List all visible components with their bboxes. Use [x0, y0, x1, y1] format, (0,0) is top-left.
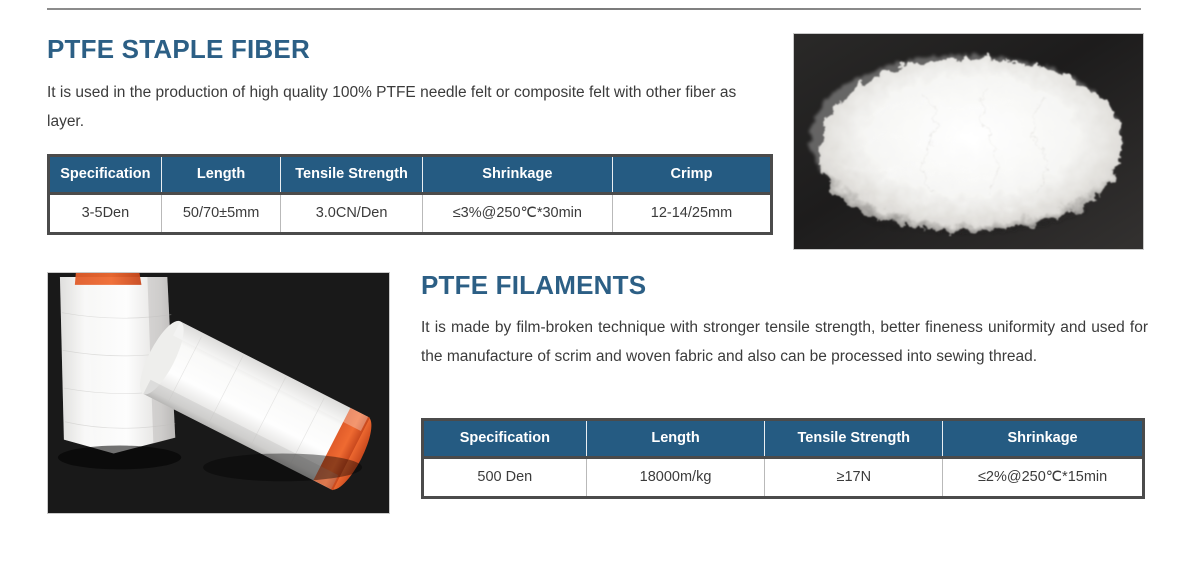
column-header-length: Length	[586, 420, 765, 458]
column-header-shrinkage: Shrinkage	[422, 156, 612, 194]
staple-fiber-description: It is used in the production of high qua…	[47, 78, 777, 136]
column-header-crimp: Crimp	[612, 156, 771, 194]
datasheet-page: PTFE STAPLE FIBER It is used in the prod…	[0, 0, 1188, 570]
cell-tensile-strength: ≥17N	[765, 458, 943, 498]
cell-shrinkage: ≤3%@250℃*30min	[422, 194, 612, 234]
cell-shrinkage: ≤2%@250℃*15min	[943, 458, 1144, 498]
filaments-spec-table: Specification Length Tensile Strength Sh…	[421, 418, 1145, 499]
column-header-tensile-strength: Tensile Strength	[281, 156, 422, 194]
cell-tensile-strength: 3.0CN/Den	[281, 194, 422, 234]
ptfe-filament-bobbins-photo	[47, 272, 390, 514]
filaments-title: PTFE FILAMENTS	[421, 272, 646, 298]
filament-bobbins-illustration	[48, 273, 389, 513]
column-header-length: Length	[161, 156, 281, 194]
cell-specification: 500 Den	[423, 458, 587, 498]
staple-fiber-title: PTFE STAPLE FIBER	[47, 36, 310, 62]
cell-length: 50/70±5mm	[161, 194, 281, 234]
ptfe-staple-fiber-photo	[793, 33, 1144, 250]
staple-fiber-illustration	[794, 34, 1143, 249]
table-row: 3-5Den 50/70±5mm 3.0CN/Den ≤3%@250℃*30mi…	[49, 194, 772, 234]
cell-crimp: 12-14/25mm	[612, 194, 771, 234]
table-header-row: Specification Length Tensile Strength Sh…	[49, 156, 772, 194]
table-row: 500 Den 18000m/kg ≥17N ≤2%@250℃*15min	[423, 458, 1144, 498]
filaments-description: It is made by film-broken technique with…	[421, 313, 1148, 371]
column-header-specification: Specification	[49, 156, 162, 194]
cell-specification: 3-5Den	[49, 194, 162, 234]
staple-fiber-spec-table: Specification Length Tensile Strength Sh…	[47, 154, 773, 235]
column-header-tensile-strength: Tensile Strength	[765, 420, 943, 458]
column-header-shrinkage: Shrinkage	[943, 420, 1144, 458]
top-divider-rule	[47, 8, 1141, 10]
cell-length: 18000m/kg	[586, 458, 765, 498]
column-header-specification: Specification	[423, 420, 587, 458]
table-header-row: Specification Length Tensile Strength Sh…	[423, 420, 1144, 458]
